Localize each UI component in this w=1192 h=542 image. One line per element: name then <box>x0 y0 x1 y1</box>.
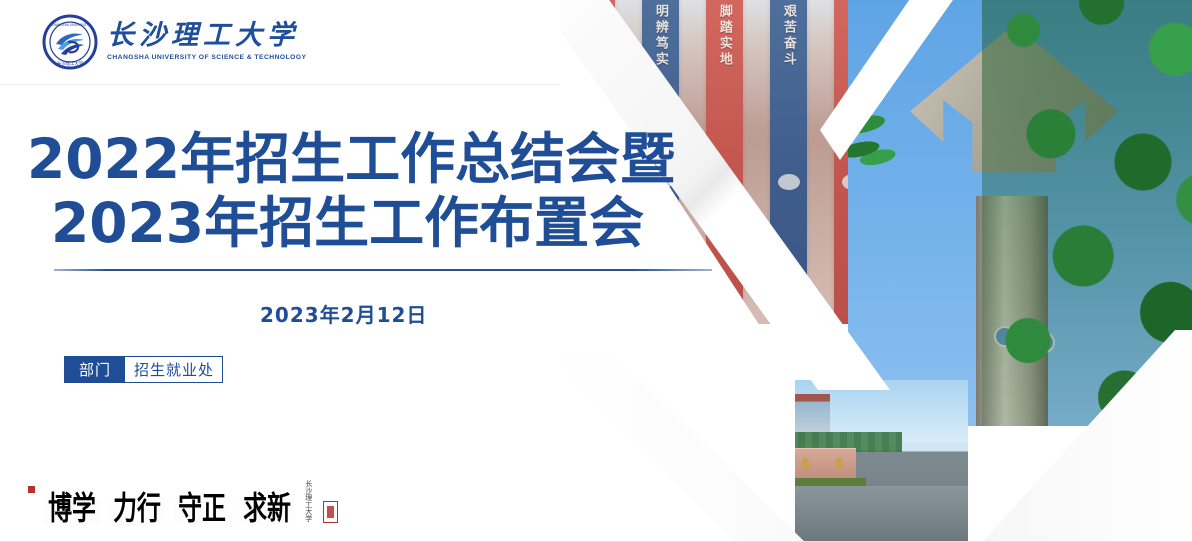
university-seal-icon: CHANGSHA UNIVERSITY 长沙理工大学 <box>42 14 98 70</box>
motto-char: 求新 <box>243 493 291 525</box>
motto-char: 守正 <box>178 493 226 525</box>
motto-red-stamp <box>323 501 338 523</box>
wall-character <box>834 458 845 471</box>
department-value: 招生就业处 <box>125 357 222 382</box>
department-label: 部门 <box>65 357 125 382</box>
motto-word: 求新 <box>239 498 295 526</box>
wall-character <box>800 458 811 471</box>
event-date: 2023年2月12日 <box>260 299 740 328</box>
motto-signature: 长沙理工大学 <box>304 480 312 522</box>
motto-seal-mark <box>28 486 35 493</box>
poster-header: CHANGSHA UNIVERSITY 长沙理工大学 长沙理工大学 CHANGS… <box>0 0 560 85</box>
university-motto-calligraphy: 博学 力行 守正 求新 长沙理工大学 <box>28 480 338 526</box>
title-divider <box>54 269 712 271</box>
banner-pillar-text: 脚踏实地 <box>715 4 734 68</box>
title-block: 2022年招生工作总结会暨 2023年招生工作布置会 2023年2月12日 <box>0 128 740 328</box>
svg-text:长沙理工大学: 长沙理工大学 <box>57 60 84 67</box>
wordmark-english: CHANGSHA UNIVERSITY OF SCIENCE & TECHNOL… <box>107 55 306 62</box>
motto-word: 力行 <box>109 498 165 526</box>
motto-word: 守正 <box>174 498 230 526</box>
poster-banner: 勤学修德 明辨笃实 脚踏实地 艰苦奋斗 乐于奉献 锐意进取 <box>0 0 1192 542</box>
stamp-mark <box>327 506 334 518</box>
page-title-line-1: 2022年招生工作总结会暨 <box>27 128 740 192</box>
university-logo: CHANGSHA UNIVERSITY 长沙理工大学 长沙理工大学 CHANGS… <box>42 14 303 70</box>
banner-pillar-text: 艰苦奋斗 <box>779 4 798 68</box>
department-tag: 部门 招生就业处 <box>64 356 223 383</box>
motto-char: 力行 <box>113 493 161 525</box>
page-title-line-2: 2023年招生工作布置会 <box>51 192 740 256</box>
svg-text:CHANGSHA UNIVERSITY: CHANGSHA UNIVERSITY <box>51 23 88 27</box>
wordmark-chinese: 长沙理工大学 <box>107 22 303 49</box>
banner-pillar-text: 明辨笃实 <box>651 4 670 68</box>
motto-char: 博学 <box>48 493 96 525</box>
university-wordmark: 长沙理工大学 CHANGSHA UNIVERSITY OF SCIENCE & … <box>107 22 303 62</box>
motto-word: 博学 <box>44 498 100 526</box>
